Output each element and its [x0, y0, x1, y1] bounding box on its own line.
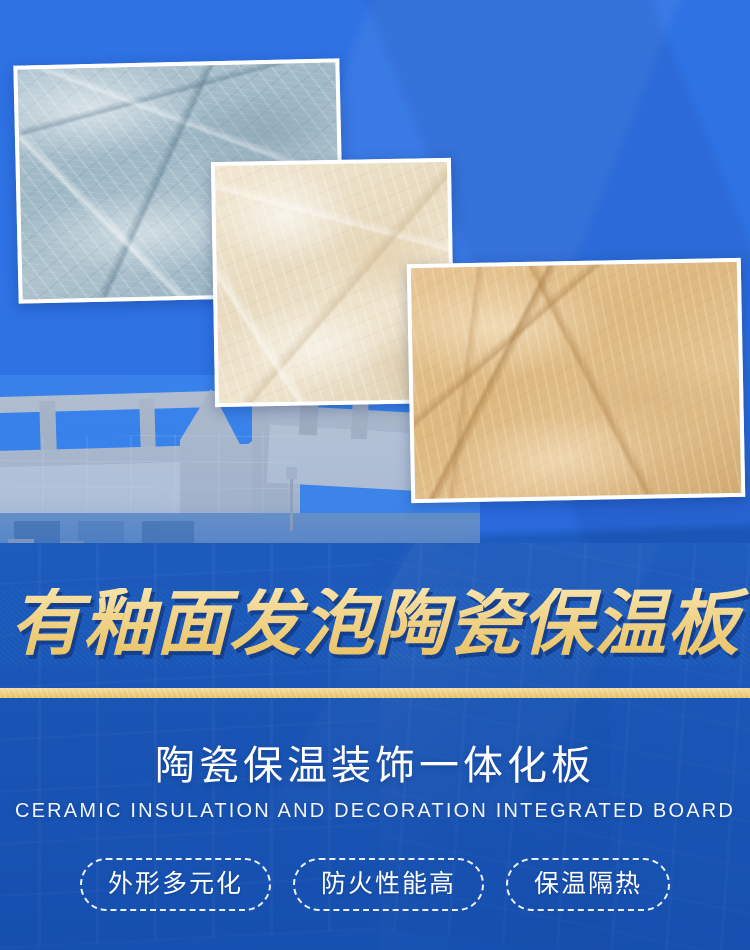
- page-title: 有釉面发泡陶瓷保温板: [0, 588, 750, 660]
- feature-pill-thermal-insulation: 保温隔热: [506, 858, 670, 911]
- feature-pill-group: 外形多元化 防火性能高 保温隔热: [0, 858, 750, 911]
- swatch-texture: [411, 262, 741, 499]
- feature-pill-shape-variety: 外形多元化: [80, 858, 271, 911]
- product-banner: 有釉面发泡陶瓷保温板 陶瓷保温装饰一体化板 CERAMIC INSULATION…: [0, 0, 750, 950]
- feature-pill-fire-resistance: 防火性能高: [293, 858, 484, 911]
- gold-divider: [0, 688, 750, 698]
- subtitle-chinese: 陶瓷保温装饰一体化板: [0, 742, 750, 790]
- subtitle-english: CERAMIC INSULATION AND DECORATION INTEGR…: [0, 800, 750, 823]
- tile-sample-tan-marble: [407, 258, 746, 503]
